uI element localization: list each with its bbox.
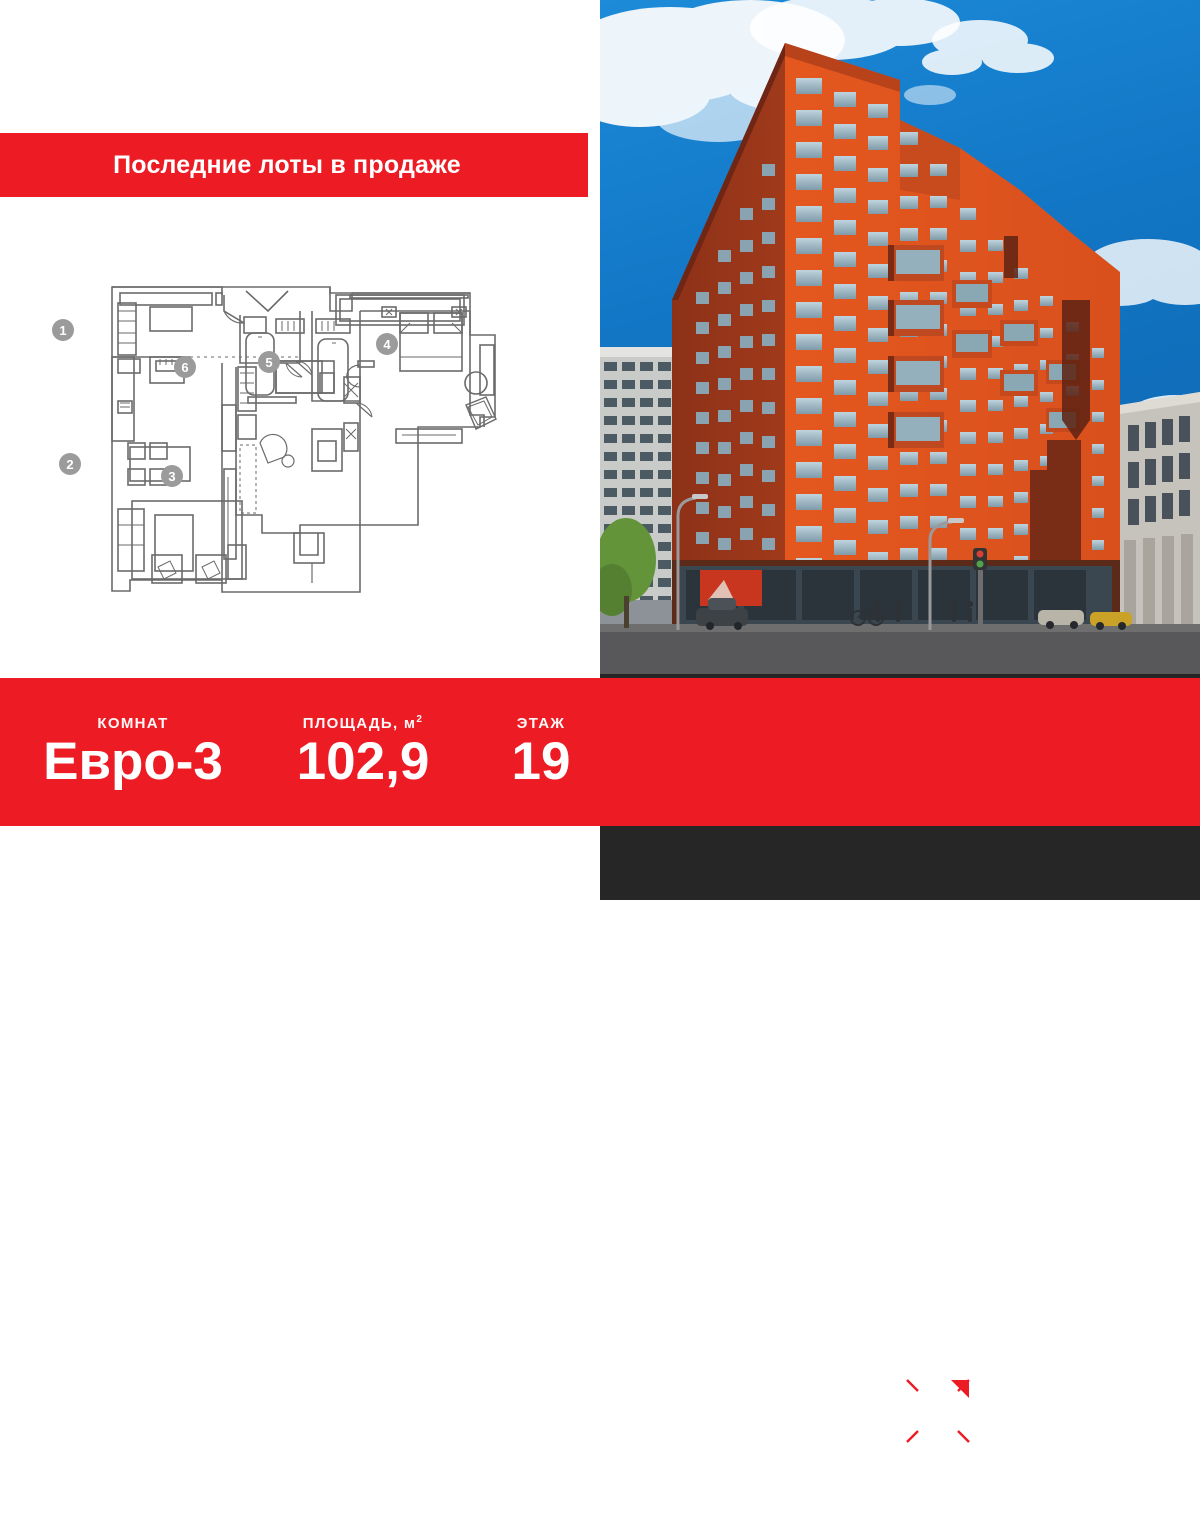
spec-area-label: ПЛОЩАДЬ, м2 [303,714,423,732]
square-frame-icon [905,1378,971,1444]
watermark-id: ID 102163700 [866,1470,1054,1503]
spec-area-label-sup: 2 [416,714,423,725]
headline-banner: Последние лоты в продаже [0,133,588,197]
room-marker-2: 2 [59,453,81,475]
floorplan-drawing: 1 2 3 4 5 [0,215,600,655]
spec-area-value: 102,9 [297,734,430,790]
building-photo-image [600,0,1200,674]
svg-text:2: 2 [66,457,73,472]
floorplan: 1 2 3 4 5 [0,215,600,655]
building-photo [600,0,1200,674]
spec-rooms-value: Евро-3 [43,734,223,790]
spec-bar: КОМНАТ Евро-3 ПЛОЩАДЬ, м2 102,9 ЭТАЖ 19 … [0,678,1200,826]
spec-rooms-label: КОМНАТ [97,715,168,732]
logo-subtitle: ГРУППА КОМПАНИЙ [987,1427,1178,1442]
spec-floor: ЭТАЖ 19 [482,678,600,826]
room-marker-1: 1 [52,319,74,341]
room-marker-3: 3 [161,465,183,487]
logo-name: ОСНОВА [987,1380,1178,1420]
svg-text:3: 3 [168,469,175,484]
svg-text:4: 4 [383,337,391,352]
developer-logo: ОСНОВА ГРУППА КОМПАНИЙ [905,1378,1178,1444]
svg-text:5: 5 [265,355,272,370]
spec-rooms: КОМНАТ Евро-3 [22,678,244,826]
listing-card: Последние лоты в продаже [0,0,1200,900]
spec-group: КОМНАТ Евро-3 ПЛОЩАДЬ, м2 102,9 ЭТАЖ 19 [0,678,600,826]
svg-text:6: 6 [181,360,188,375]
headline-text: Последние лоты в продаже [0,151,588,180]
room-marker-5: 5 [258,351,280,373]
spec-floor-value: 19 [512,734,571,790]
spec-area: ПЛОЩАДЬ, м2 102,9 [244,678,482,826]
spec-area-label-text: ПЛОЩАДЬ, м [303,715,417,732]
room-marker-6: 6 [174,356,196,378]
spec-floor-label: ЭТАЖ [517,715,565,732]
svg-text:1: 1 [59,323,66,338]
room-marker-4: 4 [376,333,398,355]
logo-text: ОСНОВА ГРУППА КОМПАНИЙ [987,1380,1178,1442]
